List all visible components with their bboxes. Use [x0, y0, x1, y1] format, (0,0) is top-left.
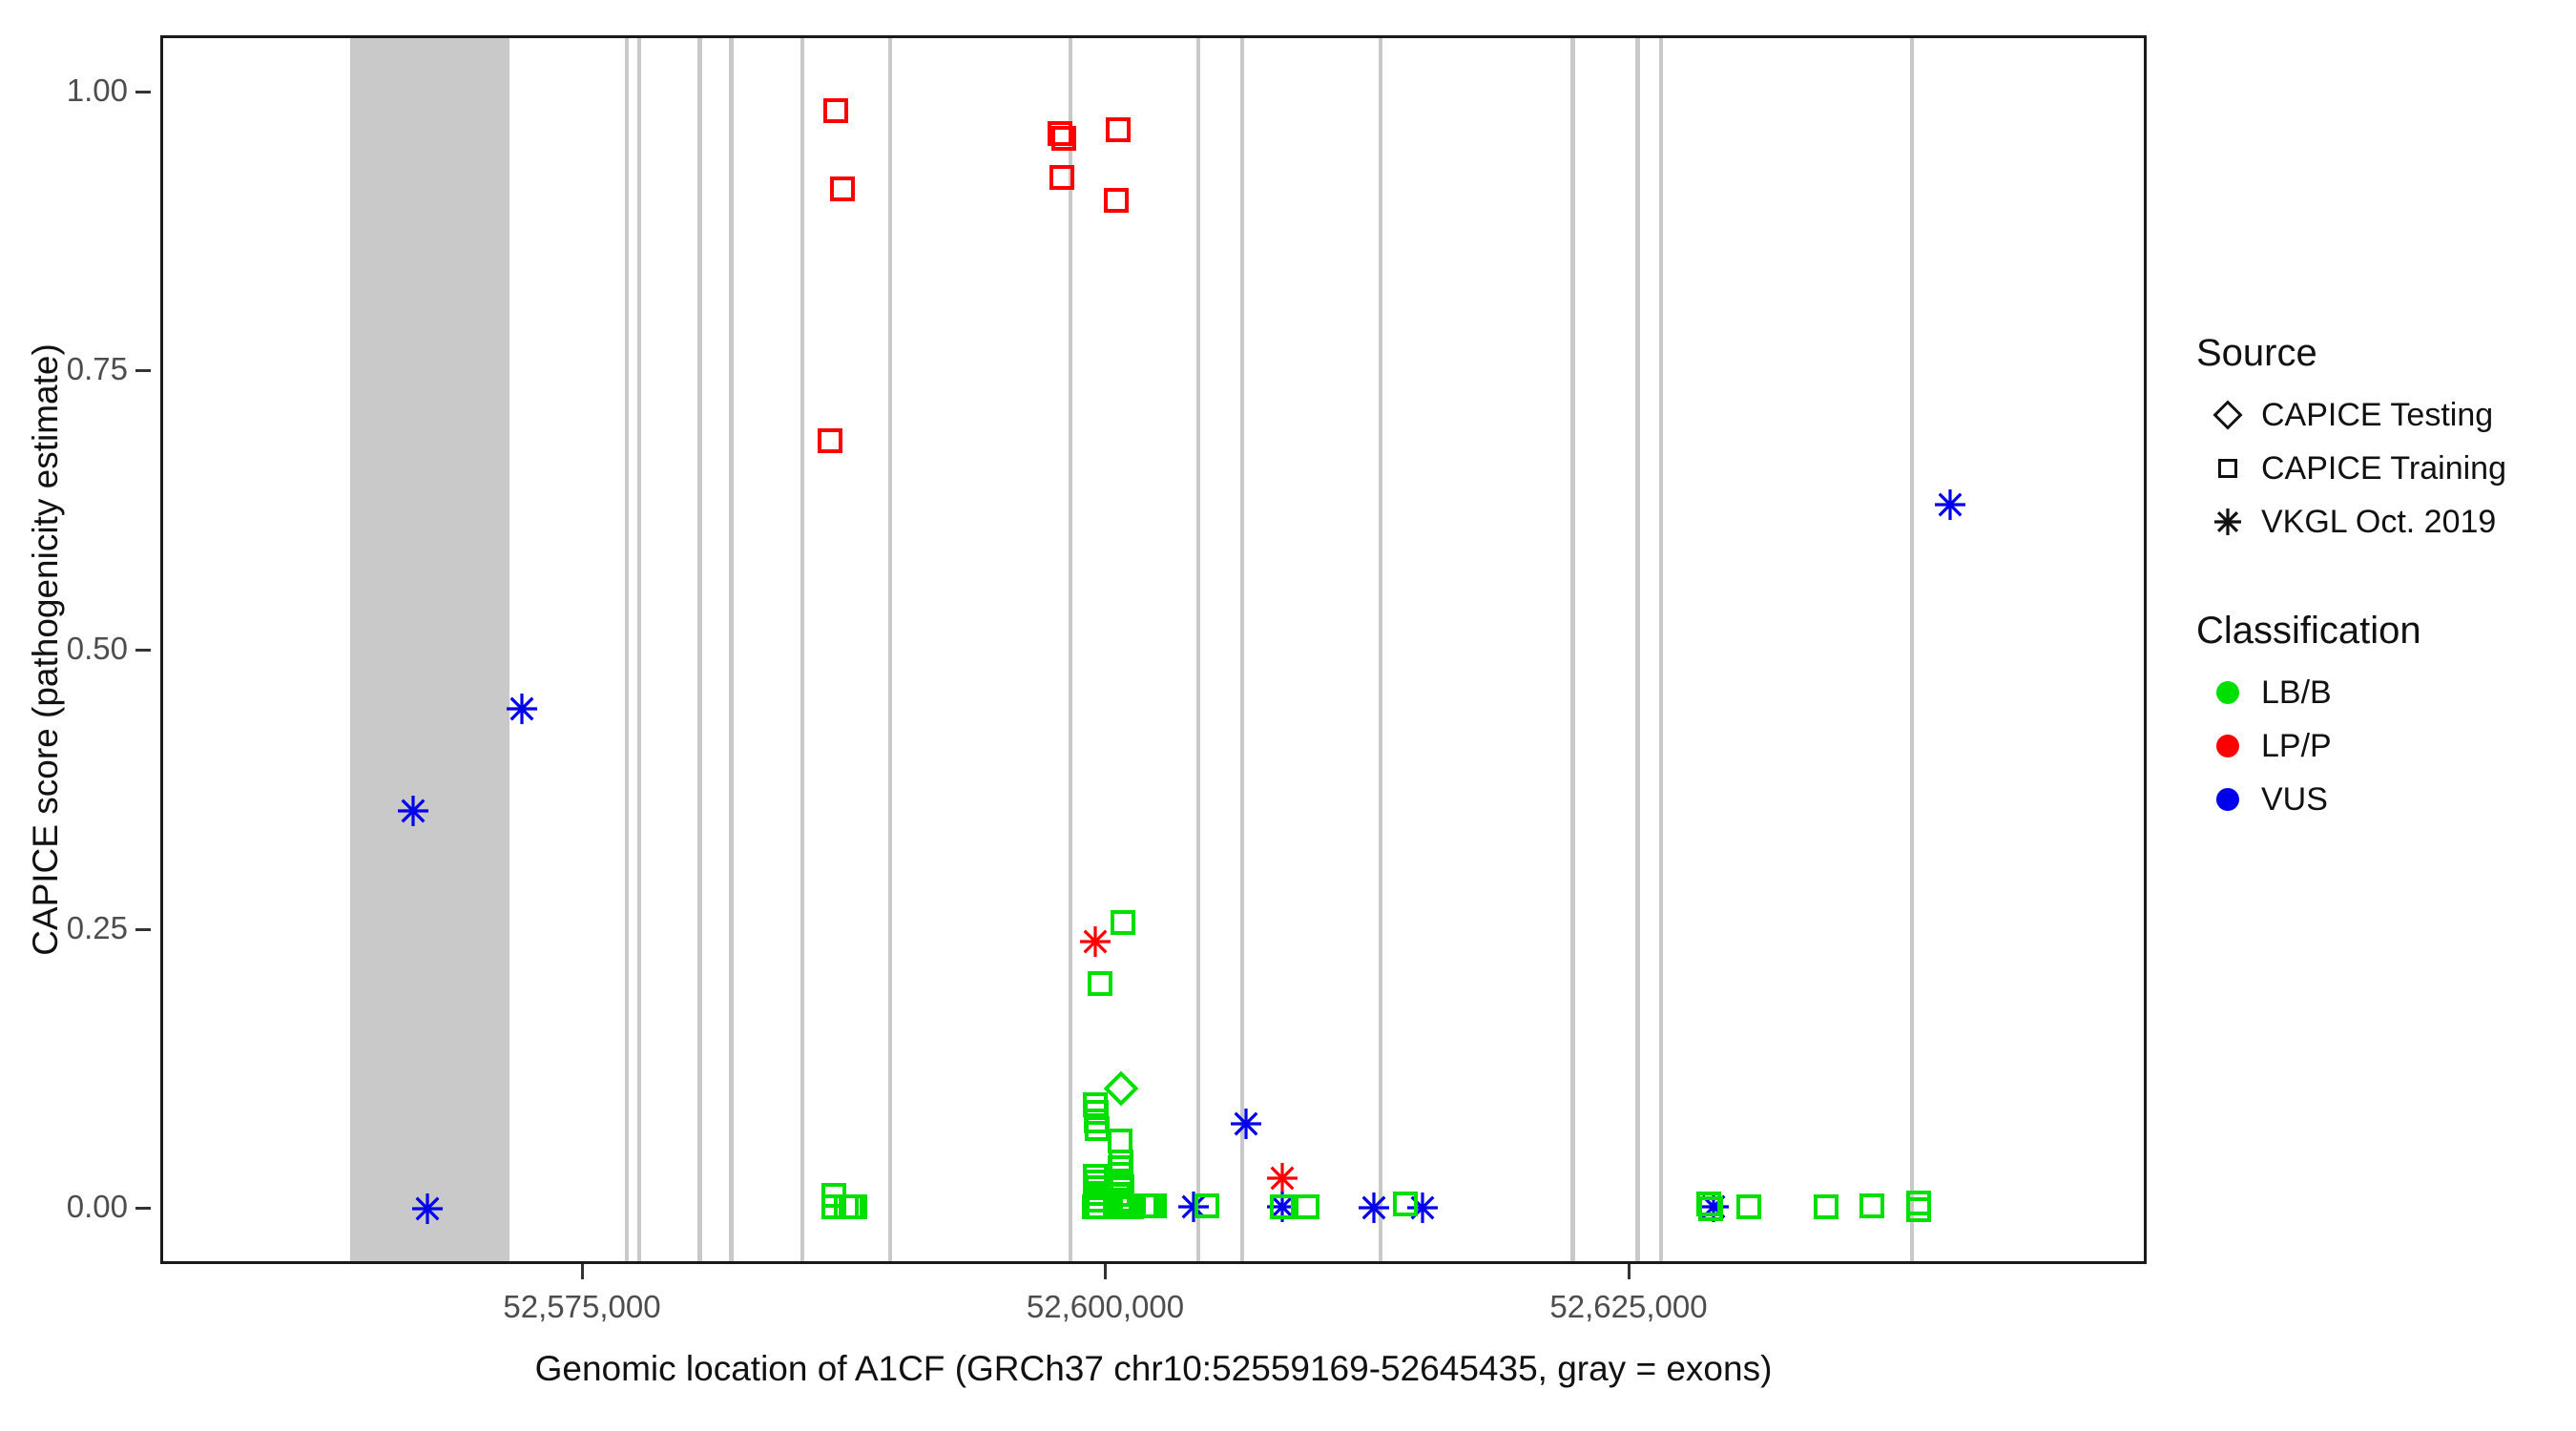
- x-tick-label: 52,600,000: [1027, 1289, 1184, 1325]
- data-point: [818, 428, 842, 453]
- square-icon: [2194, 459, 2261, 478]
- data-point: [506, 693, 538, 725]
- exon-band: [1240, 38, 1244, 1261]
- color-dot-icon: [2194, 735, 2261, 757]
- y-tick-label: 0.50: [67, 631, 128, 667]
- x-tick-mark: [581, 1264, 584, 1279]
- y-tick-label: 1.00: [67, 73, 128, 109]
- exon-band: [1570, 38, 1574, 1261]
- data-point: [1230, 1108, 1262, 1140]
- plot-panel: [160, 35, 2147, 1264]
- data-point: [1085, 1116, 1110, 1141]
- y-tick-mark: [135, 1207, 151, 1210]
- data-point: [1111, 910, 1135, 935]
- legend-item-source[interactable]: VKGL Oct. 2019: [2194, 495, 2576, 549]
- x-tick-mark: [1104, 1264, 1107, 1279]
- exon-band: [800, 38, 804, 1261]
- data-point: [1106, 117, 1131, 142]
- color-swatch: [2216, 788, 2239, 811]
- legend-item-source[interactable]: CAPICE Testing: [2194, 388, 2576, 442]
- data-point: [1051, 126, 1076, 151]
- legend-label: VUS: [2261, 781, 2328, 819]
- data-point: [1358, 1192, 1390, 1224]
- data-point: [1195, 1193, 1219, 1218]
- x-tick-label: 52,575,000: [503, 1289, 660, 1325]
- exon-band: [1635, 38, 1639, 1261]
- y-tick-mark: [135, 91, 151, 93]
- exon-band: [729, 38, 733, 1261]
- data-point: [830, 176, 855, 201]
- data-point: [1270, 1194, 1295, 1219]
- exon-band: [1379, 38, 1382, 1261]
- x-tick-label: 52,625,000: [1549, 1289, 1707, 1325]
- legend-items-classification: LB/BLP/PVUS: [2194, 666, 2576, 826]
- x-axis-label: Genomic location of A1CF (GRCh37 chr10:5…: [160, 1349, 2147, 1389]
- color-dot-icon: [2194, 681, 2261, 704]
- data-point: [842, 1194, 867, 1219]
- data-point: [1088, 971, 1112, 996]
- data-point: [1049, 165, 1074, 190]
- data-point: [1906, 1197, 1931, 1222]
- legend-label: CAPICE Training: [2261, 450, 2506, 487]
- data-point: [1859, 1193, 1884, 1218]
- legend-item-classification[interactable]: VUS: [2194, 773, 2576, 826]
- data-point: [1934, 488, 1966, 521]
- legend-item-classification[interactable]: LP/P: [2194, 719, 2576, 773]
- data-point: [1393, 1192, 1418, 1216]
- data-point: [1736, 1194, 1761, 1219]
- exon-band: [625, 38, 629, 1261]
- asterisk-icon: [2194, 508, 2261, 536]
- data-point: [1814, 1194, 1839, 1219]
- y-tick-mark: [135, 928, 151, 931]
- exon-band: [1659, 38, 1663, 1261]
- exon-band: [1196, 38, 1200, 1261]
- color-swatch: [2216, 735, 2239, 757]
- legend-items-source: CAPICE TestingCAPICE TrainingVKGL Oct. 2…: [2194, 388, 2576, 549]
- plot-area: [163, 38, 2144, 1261]
- legend-label: VKGL Oct. 2019: [2261, 504, 2496, 541]
- chart-root: CAPICE score (pathogenicity estimate) 0.…: [0, 0, 2576, 1431]
- color-swatch: [2216, 681, 2239, 704]
- legend: Source CAPICE TestingCAPICE TrainingVKGL…: [2194, 332, 2576, 887]
- exon-band: [1910, 38, 1914, 1261]
- diamond-icon: [2194, 404, 2261, 425]
- legend-label: CAPICE Testing: [2261, 397, 2493, 434]
- legend-label: LP/P: [2261, 728, 2332, 765]
- data-point: [1142, 1193, 1167, 1218]
- y-tick-mark: [135, 649, 151, 652]
- exon-band: [1069, 38, 1072, 1261]
- data-point: [823, 98, 848, 123]
- data-point: [1698, 1196, 1723, 1221]
- data-point: [1079, 925, 1111, 958]
- exon-band: [350, 38, 509, 1261]
- color-dot-icon: [2194, 788, 2261, 811]
- data-point: [397, 795, 429, 827]
- y-axis-label: CAPICE score (pathogenicity estimate): [23, 35, 69, 1264]
- y-tick-label: 0.25: [67, 910, 128, 946]
- legend-item-source[interactable]: CAPICE Training: [2194, 442, 2576, 495]
- x-tick-mark: [1628, 1264, 1631, 1279]
- exon-band: [888, 38, 892, 1261]
- legend-group-classification: Classification LB/BLP/PVUS: [2194, 610, 2576, 826]
- legend-title-source: Source: [2196, 332, 2576, 375]
- y-tick-label: 0.75: [67, 351, 128, 387]
- y-tick-mark: [135, 369, 151, 372]
- data-point: [1295, 1194, 1319, 1219]
- legend-label: LB/B: [2261, 674, 2332, 712]
- legend-title-classification: Classification: [2196, 610, 2576, 653]
- exon-band: [697, 38, 701, 1261]
- exon-band: [637, 38, 641, 1261]
- data-point: [1104, 188, 1129, 213]
- data-point: [411, 1192, 444, 1225]
- legend-item-classification[interactable]: LB/B: [2194, 666, 2576, 719]
- y-tick-label: 0.00: [67, 1189, 128, 1225]
- legend-group-source: Source CAPICE TestingCAPICE TrainingVKGL…: [2194, 332, 2576, 549]
